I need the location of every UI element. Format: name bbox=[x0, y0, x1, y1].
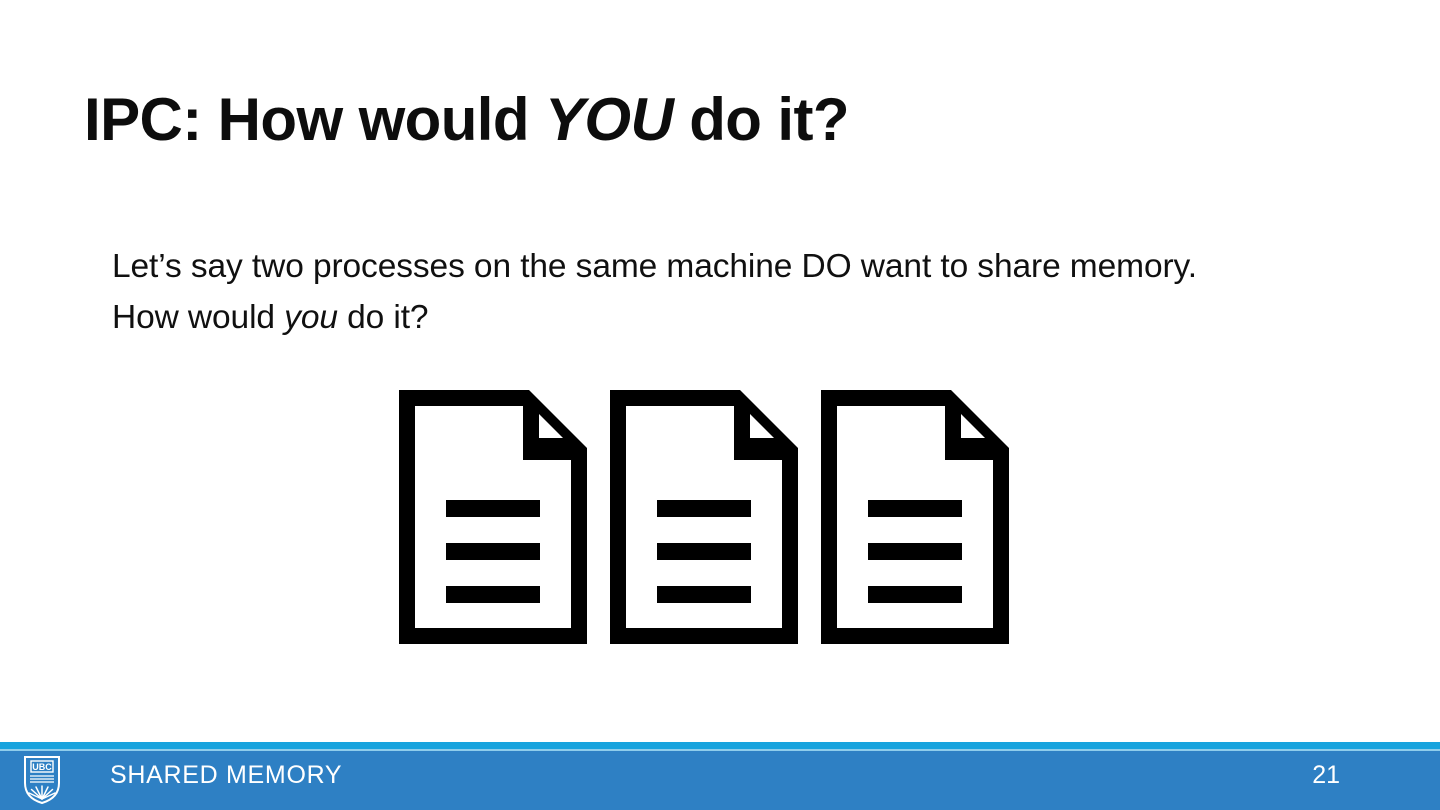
slide-canvas: IPC: How would YOU do it? Let’s say two … bbox=[0, 0, 1440, 810]
footer-section-label: SHARED MEMORY bbox=[110, 763, 342, 788]
document-icon bbox=[821, 390, 1009, 644]
body-text-emphasis: you bbox=[284, 299, 338, 336]
slide-footer: UBC SHARED MEMORY 21 bbox=[0, 742, 1440, 810]
document-icon bbox=[399, 390, 587, 644]
page-title-text-before: IPC: How would bbox=[84, 86, 545, 153]
footer-page-number: 21 bbox=[1312, 763, 1340, 788]
body-text-after: do it? bbox=[338, 299, 429, 336]
page-title: IPC: How would YOU do it? bbox=[84, 88, 1364, 153]
body-paragraph: Let’s say two processes on the same mach… bbox=[112, 241, 1232, 343]
ubc-shield-logo: UBC bbox=[22, 755, 62, 805]
svg-text:UBC: UBC bbox=[32, 762, 52, 772]
page-title-text-after: do it? bbox=[673, 86, 849, 153]
body-text-before: Let’s say two processes on the same mach… bbox=[112, 248, 1197, 336]
page-title-emphasis: YOU bbox=[545, 86, 673, 153]
document-icon bbox=[610, 390, 798, 644]
footer-accent-stripe bbox=[0, 742, 1440, 749]
document-icon-group bbox=[399, 390, 1011, 646]
